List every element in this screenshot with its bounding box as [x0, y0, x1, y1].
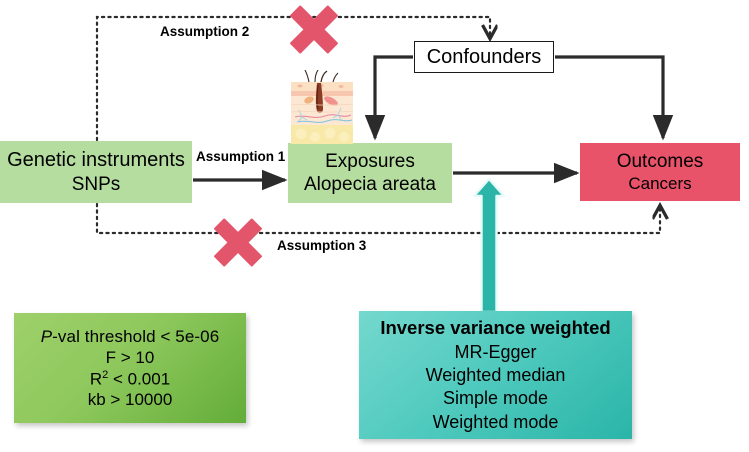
param-p-rest: -val threshold < 5e-06	[52, 327, 219, 346]
param-p-italic: P	[41, 327, 52, 346]
method-item-3: Simple mode	[443, 388, 548, 408]
node-exposures[interactable]: Exposures Alopecia areata	[288, 143, 452, 203]
param-r-rest: < 0.001	[108, 369, 170, 388]
param-r-base: R	[90, 369, 102, 388]
red-cross-icon-assumption-2	[288, 3, 340, 55]
param-r2-row: R2 < 0.001	[90, 369, 170, 389]
red-cross-icon-assumption-3	[212, 216, 264, 268]
skin-hair-follicle-illustration	[291, 70, 353, 144]
param-kb-row: kb > 10000	[88, 390, 173, 409]
method-item-2: Weighted median	[426, 365, 566, 385]
node-genetic-instruments[interactable]: Genetic instruments SNPs	[0, 141, 192, 203]
method-item-1: MR-Egger	[454, 342, 536, 362]
label-assumption-3: Assumption 3	[277, 238, 366, 253]
method-item-4: Weighted mode	[433, 412, 559, 432]
node-confounders[interactable]: Confounders	[414, 41, 554, 73]
exposure-line-2: Alopecia areata	[304, 174, 436, 195]
confounders-label: Confounders	[427, 46, 542, 68]
node-outcomes[interactable]: Outcomes Cancers	[580, 143, 740, 201]
method-item-0: Inverse variance weighted	[380, 318, 610, 339]
edge-assumption-3	[97, 204, 660, 233]
label-assumption-2: Assumption 2	[160, 24, 249, 39]
param-pval-row: P-val threshold < 5e-06	[41, 327, 220, 346]
outcome-line-1: Outcomes	[617, 151, 704, 172]
label-assumption-1: Assumption 1	[196, 149, 285, 164]
outcome-line-2: Cancers	[628, 174, 691, 193]
genetic-line-1: Genetic instruments	[7, 149, 185, 171]
methods-panel: Inverse variance weighted MR-Egger Weigh…	[359, 311, 632, 439]
teal-up-arrow-icon	[474, 179, 504, 312]
genetic-line-2: SNPs	[72, 174, 121, 195]
parameters-panel: P-val threshold < 5e-06 F > 10 R2 < 0.00…	[14, 313, 246, 423]
diagram-canvas: Genetic instruments SNPs Exposures Alope…	[0, 0, 749, 452]
param-f-row: F > 10	[106, 348, 155, 367]
exposure-line-1: Exposures	[325, 151, 415, 172]
edge-confounders-outcome	[555, 57, 663, 138]
edge-confounders-exposure	[375, 57, 413, 138]
